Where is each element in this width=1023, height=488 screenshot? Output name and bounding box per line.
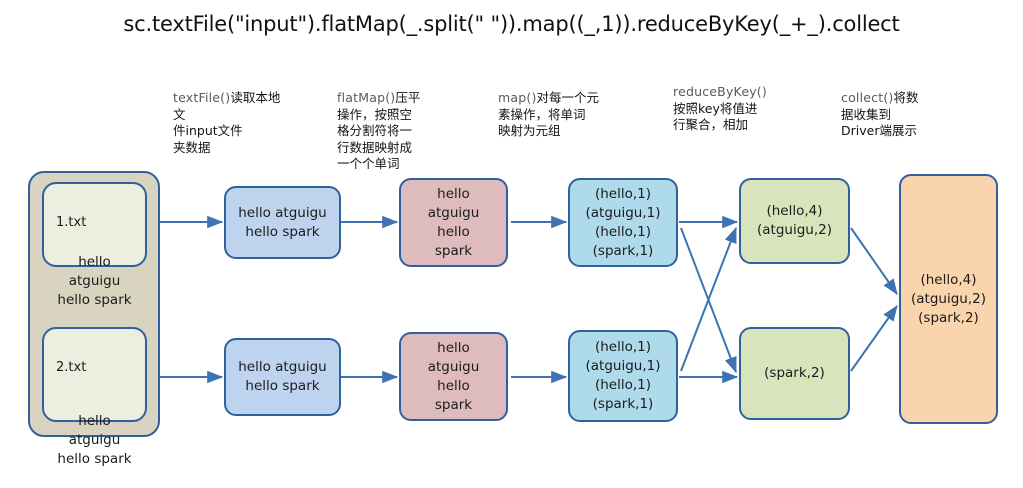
annotation-collect-fn: collect() xyxy=(841,90,893,105)
annotation-reducebykey-text: 按照key将值进 行聚合，相加 xyxy=(673,101,757,133)
annotation-flatmap: flatMap()压平 操作，按照空 格分割符将一 行数据映射成 一个个单词 xyxy=(337,90,452,173)
annotation-reducebykey: reduceByKey()按照key将值进 行聚合，相加 xyxy=(673,84,803,134)
flatmap-box-1[interactable]: hello atguigu hello spark xyxy=(399,178,508,267)
annotation-collect: collect()将数 据收集到 Driver端展示 xyxy=(841,90,961,140)
map-box-1[interactable]: (hello,1) (atguigu,1) (hello,1) (spark,1… xyxy=(568,178,678,267)
source-file-1-name: 1.txt xyxy=(56,213,133,232)
annotation-textfile-fn: textFile() xyxy=(173,90,230,105)
source-file-2-lines: hello atguigu hello spark xyxy=(56,412,133,469)
arrow-map2-to-reduce1 xyxy=(681,228,736,371)
textfile-box-2[interactable]: hello atguigu hello spark xyxy=(224,338,341,416)
source-file-1-lines: hello atguigu hello spark xyxy=(56,253,133,310)
flatmap-box-2[interactable]: hello atguigu hello spark xyxy=(399,332,508,421)
arrow-reduce2-to-collect xyxy=(851,306,897,371)
annotation-flatmap-fn: flatMap() xyxy=(337,90,395,105)
source-file-2[interactable]: 2.txt hello atguigu hello spark xyxy=(42,327,147,422)
collect-box[interactable]: (hello,4) (atguigu,2) (spark,2) xyxy=(899,174,998,424)
reducebykey-box-1[interactable]: (hello,4) (atguigu,2) xyxy=(739,178,850,264)
arrow-map1-to-reduce2 xyxy=(681,228,736,372)
annotation-reducebykey-fn: reduceByKey() xyxy=(673,84,767,99)
page-title: sc.textFile("input").flatMap(_.split(" "… xyxy=(0,12,1023,36)
arrow-reduce1-to-collect xyxy=(851,228,897,294)
textfile-box-1[interactable]: hello atguigu hello spark xyxy=(224,186,341,259)
map-box-2[interactable]: (hello,1) (atguigu,1) (hello,1) (spark,1… xyxy=(568,330,678,422)
annotation-map-fn: map() xyxy=(498,90,537,105)
source-file-2-name: 2.txt xyxy=(56,358,133,377)
reducebykey-box-2[interactable]: (spark,2) xyxy=(739,327,850,420)
source-file-1[interactable]: 1.txt hello atguigu hello spark xyxy=(42,182,147,267)
annotation-map: map()对每一个元 素操作，将单词 映射为元组 xyxy=(498,90,628,140)
annotation-textfile: textFile()读取本地文 件input文件 夹数据 xyxy=(173,90,288,156)
